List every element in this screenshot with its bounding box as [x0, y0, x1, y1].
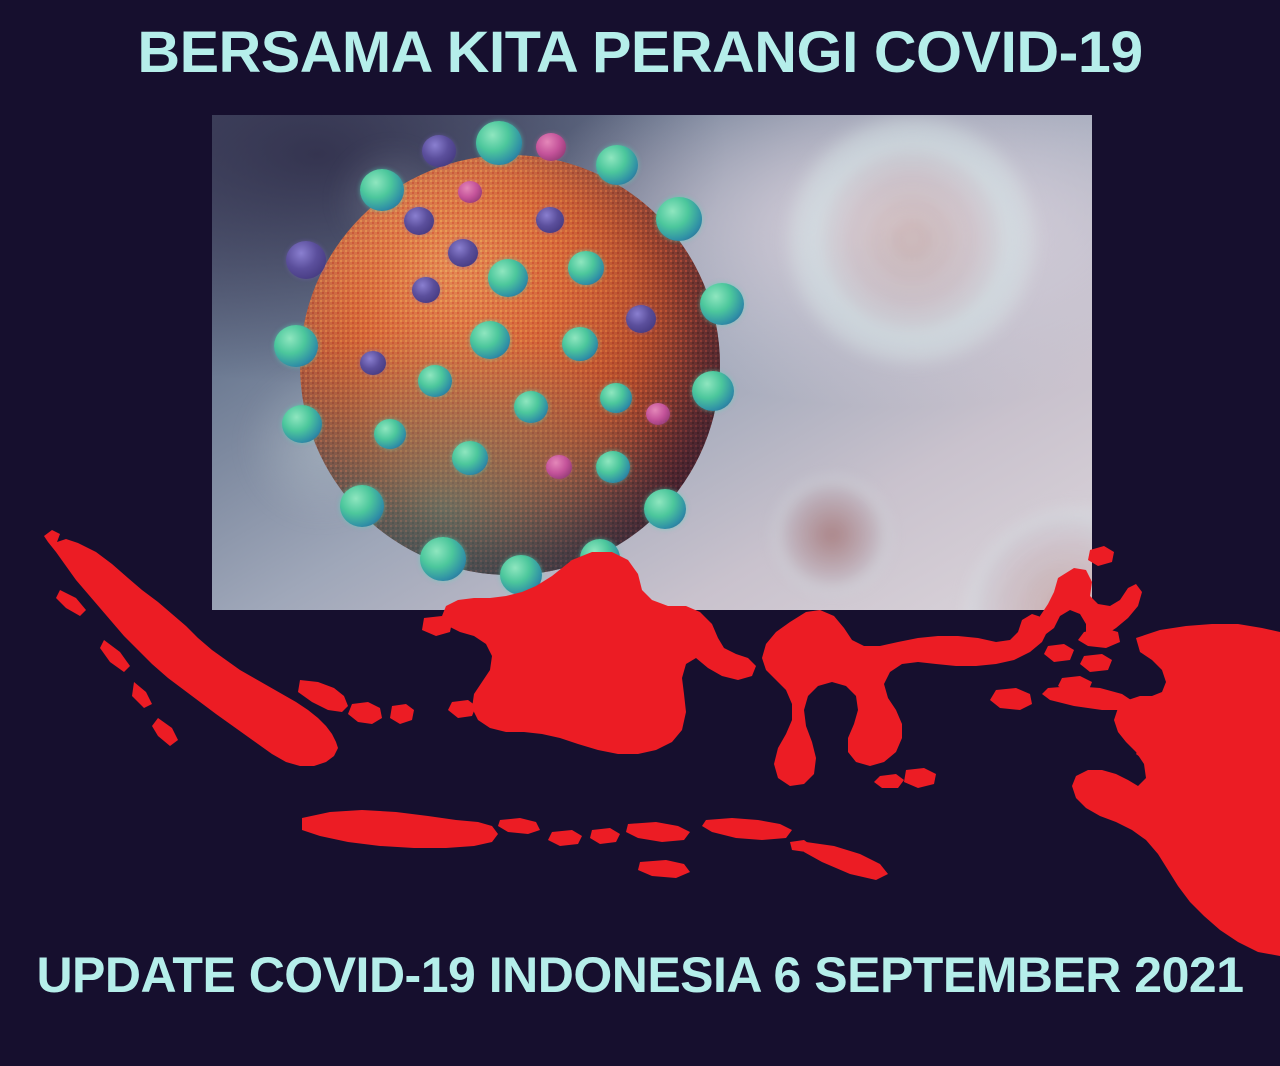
spike-protein-icon [418, 365, 452, 397]
island-bali [548, 830, 582, 846]
island-sumba [638, 860, 690, 878]
spike-protein-icon [596, 145, 638, 185]
page-title: BERSAMA KITA PERANGI COVID-19 [0, 24, 1280, 82]
spike-protein-icon [562, 327, 598, 361]
spike-protein-icon [546, 455, 572, 479]
spike-protein-icon [412, 277, 440, 303]
island-belitung [390, 704, 414, 724]
island-bacan [1044, 644, 1074, 662]
covid-update-poster: BERSAMA KITA PERANGI COVID-19 [0, 0, 1280, 1066]
island-obi [1080, 654, 1112, 672]
spike-protein-icon [422, 135, 456, 167]
spike-protein-icon [514, 391, 548, 423]
spike-protein-icon [374, 419, 406, 449]
spike-protein-icon [692, 371, 734, 411]
spike-protein-icon [700, 283, 744, 325]
spike-protein-icon [488, 259, 528, 297]
island-karimata [448, 700, 476, 718]
island-siberut [100, 640, 130, 672]
map-landmass-group [44, 530, 1280, 956]
island-kalimantan [442, 552, 756, 754]
spike-protein-icon [360, 351, 386, 375]
island-flores [702, 818, 792, 840]
spike-protein-icon [600, 383, 632, 413]
island-sumbawa [626, 822, 690, 842]
spike-protein-icon [596, 451, 630, 483]
island-sumatra [44, 530, 338, 766]
spike-protein-icon [476, 121, 522, 165]
spike-protein-icon [360, 169, 404, 211]
island-waigeo [1078, 628, 1120, 648]
spike-protein-icon [448, 239, 478, 267]
island-lombok [590, 828, 620, 844]
island-morotai [1088, 546, 1114, 566]
spike-protein-icon [568, 251, 604, 285]
indonesia-map [0, 490, 1280, 960]
island-buru [990, 688, 1032, 710]
island-sumatra-riau [298, 680, 348, 712]
island-enggano [152, 718, 178, 746]
island-timor [804, 842, 888, 880]
spike-protein-icon [282, 405, 322, 443]
spike-protein-icon [626, 305, 656, 333]
island-papua [1072, 624, 1280, 956]
spike-protein-icon [404, 207, 434, 235]
island-buton [904, 768, 936, 788]
spike-protein-icon [274, 325, 318, 367]
spike-protein-icon [452, 441, 488, 475]
spike-protein-icon [458, 181, 482, 203]
spike-protein-icon [536, 207, 564, 233]
page-subtitle: UPDATE COVID-19 INDONESIA 6 SEPTEMBER 20… [0, 950, 1280, 1000]
island-sipura [132, 682, 152, 708]
island-java [302, 810, 498, 848]
spike-protein-icon [646, 403, 670, 425]
island-nias [56, 590, 86, 616]
spike-protein-icon [470, 321, 510, 359]
background-virion-icon [797, 125, 1027, 355]
spike-protein-icon [286, 241, 326, 279]
spike-protein-icon [656, 197, 702, 241]
island-bangka [348, 702, 382, 724]
island-muna [874, 774, 904, 788]
spike-protein-icon [536, 133, 566, 161]
island-madura [498, 818, 540, 834]
